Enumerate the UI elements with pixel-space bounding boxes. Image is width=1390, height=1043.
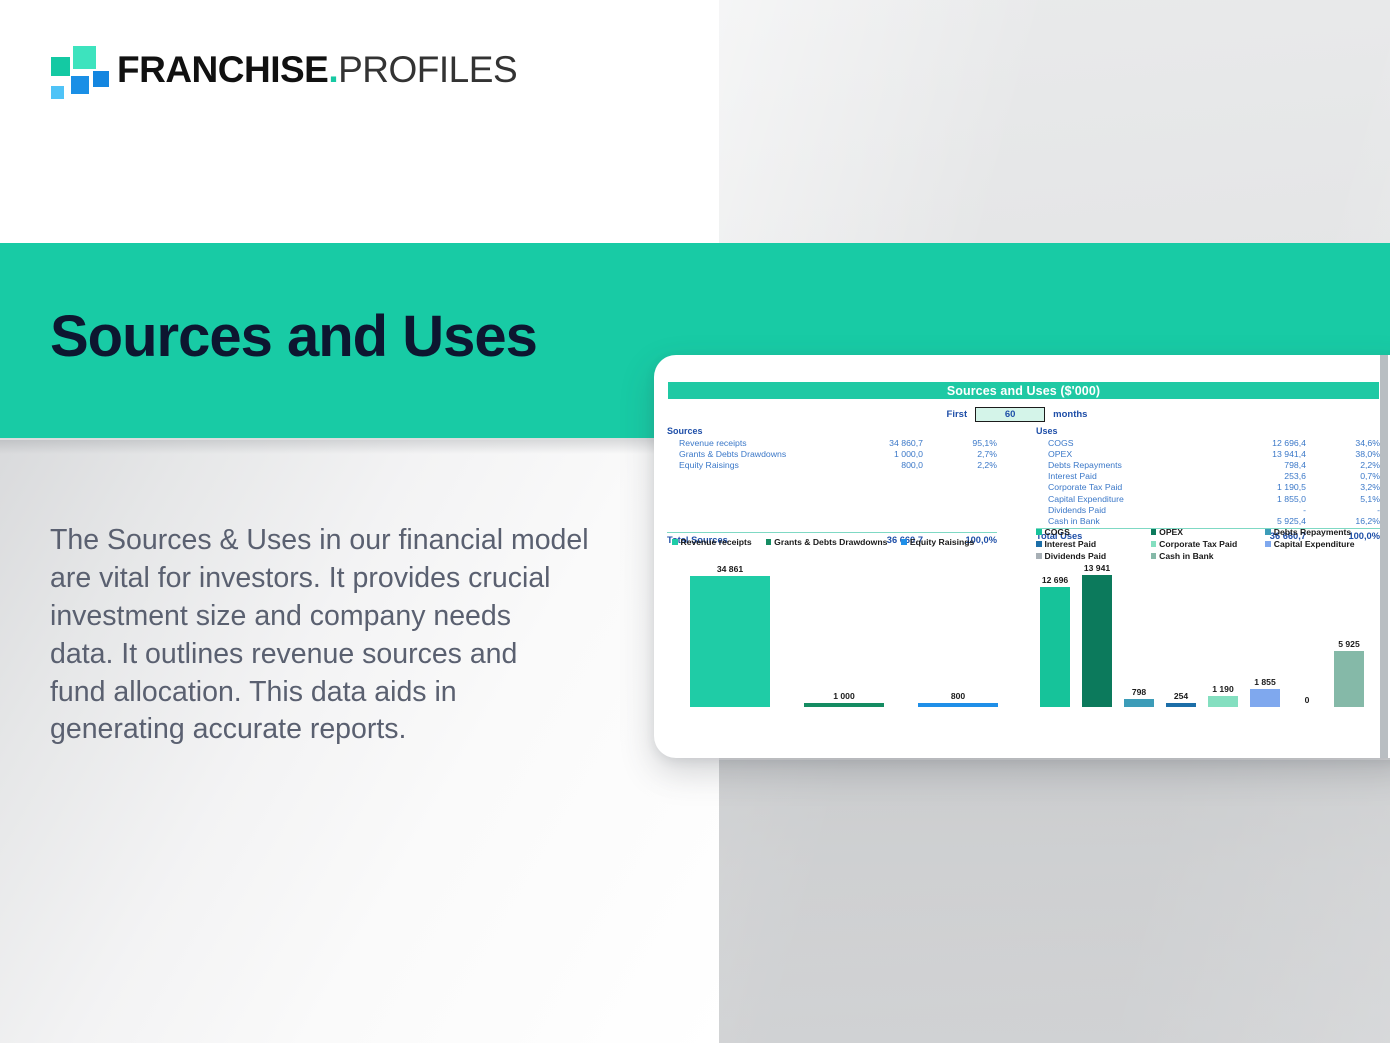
- legend-item[interactable]: Grants & Debts Drawdowns: [766, 537, 888, 547]
- table-row: COGS 12 696,4 34,6%: [1036, 437, 1380, 448]
- uses-bar-chart: 12 69613 9417982541 1901 85505 925: [1034, 555, 1380, 715]
- row-label: Grants & Debts Drawdowns: [667, 449, 837, 459]
- bar-group: 800: [918, 555, 998, 707]
- bar-group: 5 925: [1334, 555, 1364, 707]
- table-row: Dividends Paid - -: [1036, 504, 1380, 515]
- legend-label: Debts Repayments: [1274, 527, 1351, 537]
- row-percent: 2,2%: [923, 460, 997, 470]
- row-value: 800,0: [837, 460, 923, 470]
- period-selector-row: First 60 months: [654, 405, 1380, 423]
- legend-label: Grants & Debts Drawdowns: [774, 537, 887, 547]
- bar-value-label: 13 941: [1084, 563, 1110, 573]
- row-label: COGS: [1036, 438, 1220, 448]
- bar-value-label: 5 925: [1338, 639, 1360, 649]
- bar[interactable]: [1040, 587, 1070, 707]
- bar-group: 1 190: [1208, 555, 1238, 707]
- legend-item[interactable]: Revenue receipts: [672, 537, 752, 547]
- legend-swatch-icon: [672, 539, 678, 545]
- legend-item[interactable]: OPEX: [1151, 527, 1266, 537]
- spreadsheet-card: Sources and Uses ($'000) First 60 months…: [654, 355, 1390, 758]
- bar[interactable]: [1082, 575, 1112, 707]
- row-percent: 34,6%: [1306, 438, 1380, 448]
- table-row: Cash in Bank 5 925,4 16,2%: [1036, 515, 1380, 526]
- row-label: Interest Paid: [1036, 471, 1220, 481]
- row-value: 13 941,4: [1220, 449, 1306, 459]
- row-percent: 2,2%: [1306, 460, 1380, 470]
- sources-header: Sources: [667, 426, 997, 437]
- bar[interactable]: [1208, 696, 1238, 707]
- bar[interactable]: [918, 703, 998, 707]
- bar-value-label: 0: [1305, 695, 1310, 705]
- legend-item[interactable]: Corporate Tax Paid: [1151, 539, 1266, 549]
- legend-swatch-icon: [1036, 541, 1042, 547]
- uses-header: Uses: [1036, 426, 1380, 437]
- page-title: Sources and Uses: [50, 305, 537, 369]
- bar-group: 1 000: [804, 555, 884, 707]
- table-spacer: [667, 481, 997, 491]
- row-label: Dividends Paid: [1036, 505, 1220, 515]
- row-value: -: [1220, 505, 1306, 515]
- legend-item[interactable]: COGS: [1036, 527, 1151, 537]
- row-label: Equity Raisings: [667, 460, 837, 470]
- row-label: Revenue receipts: [667, 438, 837, 448]
- brand-name-bold: FRANCHISE: [117, 49, 328, 90]
- bar-group: 34 861: [690, 555, 770, 707]
- brand-dot: .: [328, 49, 338, 90]
- row-value: 34 860,7: [837, 438, 923, 448]
- bar-value-label: 798: [1132, 687, 1146, 697]
- table-row: Capital Expenditure 1 855,0 5,1%: [1036, 493, 1380, 504]
- table-spacer: [667, 491, 997, 501]
- row-percent: 2,7%: [923, 449, 997, 459]
- sources-plot-area: 34 8611 000800: [668, 555, 1008, 707]
- table-row: Grants & Debts Drawdowns 1 000,0 2,7%: [667, 448, 997, 459]
- row-value: 253,6: [1220, 471, 1306, 481]
- table-spacer: [667, 521, 997, 531]
- row-value: 12 696,4: [1220, 438, 1306, 448]
- brand-wordmark: FRANCHISE.PROFILES: [117, 51, 517, 88]
- bar-value-label: 254: [1174, 691, 1188, 701]
- table-row: Corporate Tax Paid 1 190,5 3,2%: [1036, 482, 1380, 493]
- bar-group: 12 696: [1040, 555, 1070, 707]
- row-percent: 16,2%: [1306, 516, 1380, 526]
- period-prefix-label: First: [947, 409, 968, 420]
- brand-name-light: PROFILES: [338, 49, 517, 90]
- bar-value-label: 34 861: [717, 564, 743, 574]
- period-suffix-label: months: [1053, 409, 1087, 420]
- row-label: Cash in Bank: [1036, 516, 1220, 526]
- sheet-title: Sources and Uses ($'000): [668, 382, 1379, 399]
- legend-item[interactable]: Capital Expenditure: [1265, 539, 1380, 549]
- row-label: Capital Expenditure: [1036, 494, 1220, 504]
- sources-chart-legend: Revenue receiptsGrants & Debts Drawdowns…: [672, 537, 1012, 547]
- row-label: Corporate Tax Paid: [1036, 482, 1220, 492]
- legend-item[interactable]: Interest Paid: [1036, 539, 1151, 549]
- body-paragraph: The Sources & Uses in our financial mode…: [50, 522, 620, 749]
- background-lower-right-gradient: [719, 760, 1390, 1043]
- bar-value-label: 800: [951, 691, 965, 701]
- legend-swatch-icon: [1151, 541, 1157, 547]
- bar-value-label: 1 000: [833, 691, 855, 701]
- row-value: 1 000,0: [837, 449, 923, 459]
- row-percent: 5,1%: [1306, 494, 1380, 504]
- row-percent: 95,1%: [923, 438, 997, 448]
- legend-swatch-icon: [1151, 529, 1157, 535]
- bar[interactable]: [804, 703, 884, 707]
- table-row: Revenue receipts 34 860,7 95,1%: [667, 437, 997, 448]
- table-row: Equity Raisings 800,0 2,2%: [667, 459, 997, 470]
- legend-swatch-icon: [1036, 529, 1042, 535]
- bar[interactable]: [1334, 651, 1364, 707]
- row-percent: -: [1306, 505, 1380, 515]
- legend-swatch-icon: [901, 539, 907, 545]
- row-value: 1 855,0: [1220, 494, 1306, 504]
- logo-squares-icon: [47, 45, 105, 93]
- bar[interactable]: [1124, 699, 1154, 707]
- bar[interactable]: [1166, 703, 1196, 707]
- bar-group: 13 941: [1082, 555, 1112, 707]
- bar-value-label: 1 855: [1254, 677, 1276, 687]
- uses-table: Uses COGS 12 696,4 34,6% OPEX 13 941,4 3…: [1036, 426, 1380, 543]
- table-spacer: [667, 471, 997, 481]
- spreadsheet: Sources and Uses ($'000) First 60 months…: [654, 355, 1390, 758]
- row-percent: 0,7%: [1306, 471, 1380, 481]
- sources-bar-chart: 34 8611 000800: [668, 555, 1008, 715]
- uses-plot-area: 12 69613 9417982541 1901 85505 925: [1034, 555, 1380, 707]
- legend-swatch-icon: [766, 539, 772, 545]
- table-row: OPEX 13 941,4 38,0%: [1036, 448, 1380, 459]
- bar-group: 0: [1292, 555, 1322, 707]
- legend-label: OPEX: [1159, 527, 1183, 537]
- bar-value-label: 12 696: [1042, 575, 1068, 585]
- bar[interactable]: [690, 576, 770, 707]
- sheet-scrollbar[interactable]: [1380, 355, 1388, 758]
- bar-value-label: 1 190: [1212, 684, 1234, 694]
- row-label: Debts Repayments: [1036, 460, 1220, 470]
- legend-label: COGS: [1045, 527, 1070, 537]
- legend-label: Revenue receipts: [681, 537, 752, 547]
- legend-label: Capital Expenditure: [1274, 539, 1355, 549]
- table-spacer: [667, 511, 997, 521]
- row-value: 798,4: [1220, 460, 1306, 470]
- row-percent: 3,2%: [1306, 482, 1380, 492]
- legend-label: Interest Paid: [1045, 539, 1097, 549]
- legend-label: Equity Raisings: [910, 537, 974, 547]
- legend-swatch-icon: [1265, 541, 1271, 547]
- brand-logo: FRANCHISE.PROFILES: [47, 45, 517, 93]
- legend-item[interactable]: Equity Raisings: [901, 537, 974, 547]
- row-value: 1 190,5: [1220, 482, 1306, 492]
- row-value: 5 925,4: [1220, 516, 1306, 526]
- slide-canvas: FRANCHISE.PROFILES Sources and Uses The …: [0, 0, 1390, 1043]
- bar-group: 1 855: [1250, 555, 1280, 707]
- bar-group: 254: [1166, 555, 1196, 707]
- table-spacer: [667, 501, 997, 511]
- row-percent: 38,0%: [1306, 449, 1380, 459]
- bar-group: 798: [1124, 555, 1154, 707]
- table-row: Interest Paid 253,6 0,7%: [1036, 471, 1380, 482]
- legend-item[interactable]: Debts Repayments: [1265, 527, 1380, 537]
- legend-swatch-icon: [1265, 529, 1271, 535]
- table-row: Debts Repayments 798,4 2,2%: [1036, 459, 1380, 470]
- bar[interactable]: [1250, 689, 1280, 707]
- legend-label: Corporate Tax Paid: [1159, 539, 1237, 549]
- row-label: OPEX: [1036, 449, 1220, 459]
- sources-table: Sources Revenue receipts 34 860,7 95,1% …: [667, 426, 997, 547]
- period-months-input[interactable]: 60: [975, 407, 1045, 422]
